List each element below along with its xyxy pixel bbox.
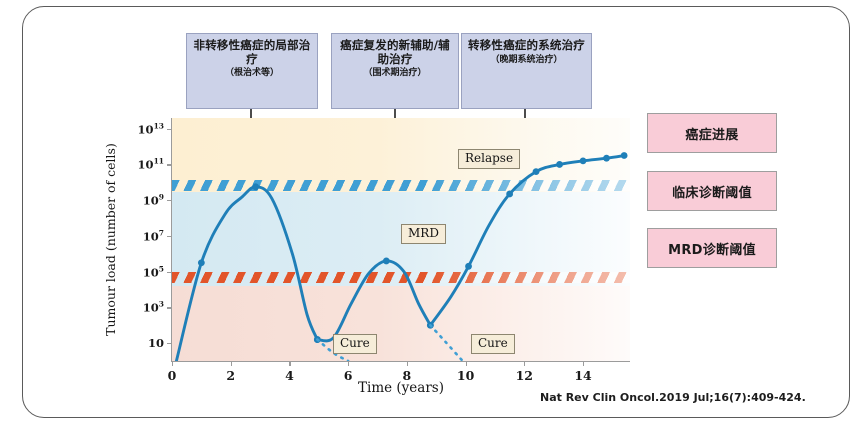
curve-data-point	[252, 183, 259, 190]
x-tick	[466, 361, 467, 366]
curve-segment	[176, 187, 317, 361]
citation-text: Nat Rev Clin Oncol.2019 Jul;16(7):409-42…	[540, 391, 806, 404]
callout-box-perioperative-therapy: 癌症复发的新辅助/辅助治疗 （围术期治疗）	[331, 33, 459, 109]
annotation-mrd: MRD	[401, 224, 446, 244]
y-tick	[167, 343, 172, 344]
y-tick	[167, 164, 172, 165]
callout-3-main: 转移性癌症的系统治疗	[466, 39, 587, 53]
curve-data-point	[465, 263, 472, 270]
y-axis-line	[171, 118, 172, 361]
callout-2-sub: （围术期治疗）	[336, 68, 454, 79]
callout-1-main: 非转移性癌症的局部治疗	[191, 39, 313, 66]
callout-box-local-therapy: 非转移性癌症的局部治疗 （根治术等）	[186, 33, 318, 109]
x-tick	[231, 361, 232, 366]
curve-data-point	[556, 161, 563, 168]
curve-data-point	[580, 157, 587, 164]
y-tick-label: 1013	[138, 121, 164, 136]
curve-segment	[317, 261, 430, 341]
y-tick	[167, 272, 172, 273]
y-tick-label: 105	[143, 264, 164, 279]
x-tick	[583, 361, 584, 366]
curve-segment	[430, 325, 462, 361]
x-tick	[348, 361, 349, 366]
y-tick	[167, 129, 172, 130]
y-tick-label: 103	[143, 300, 164, 315]
annotation-relapse: Relapse	[458, 149, 520, 169]
curve-data-point	[198, 259, 205, 266]
x-axis-line	[171, 361, 630, 362]
x-tick	[524, 361, 525, 366]
curve-data-point	[603, 155, 610, 162]
annotation-cure-first: Cure	[333, 334, 377, 354]
y-axis-title: Tumour load (number of cells)	[103, 118, 121, 361]
callout-2-main: 癌症复发的新辅助/辅助治疗	[336, 39, 454, 66]
y-tick	[167, 200, 172, 201]
callout-1-sub: （根治术等）	[191, 68, 313, 79]
y-tick-label: 109	[143, 193, 164, 208]
curve-data-point	[533, 168, 540, 175]
curve-data-point	[383, 258, 390, 265]
curve-data-point	[506, 191, 513, 198]
curve-data-point	[621, 152, 628, 159]
figure-root: 非转移性癌症的局部治疗 （根治术等） 癌症复发的新辅助/辅助治疗 （围术期治疗）…	[0, 0, 865, 432]
y-tick-label: 10	[148, 336, 164, 350]
y-tick-label: 1011	[138, 157, 164, 172]
annotation-cure-second: Cure	[471, 334, 515, 354]
side-label-clinical-threshold: 临床诊断阈值	[647, 171, 777, 211]
callout-3-sub: （晚期系统治疗）	[466, 55, 587, 66]
x-tick	[172, 361, 173, 366]
x-tick	[289, 361, 290, 366]
side-label-mrd-threshold: MRD诊断阈值	[647, 228, 777, 268]
y-tick	[167, 236, 172, 237]
curve-segment	[430, 156, 624, 326]
y-tick	[167, 307, 172, 308]
side-label-cancer-progression: 癌症进展	[647, 113, 777, 153]
y-tick-label: 107	[143, 229, 164, 244]
callout-box-systemic-therapy: 转移性癌症的系统治疗 （晚期系统治疗）	[461, 33, 592, 109]
x-tick	[407, 361, 408, 366]
